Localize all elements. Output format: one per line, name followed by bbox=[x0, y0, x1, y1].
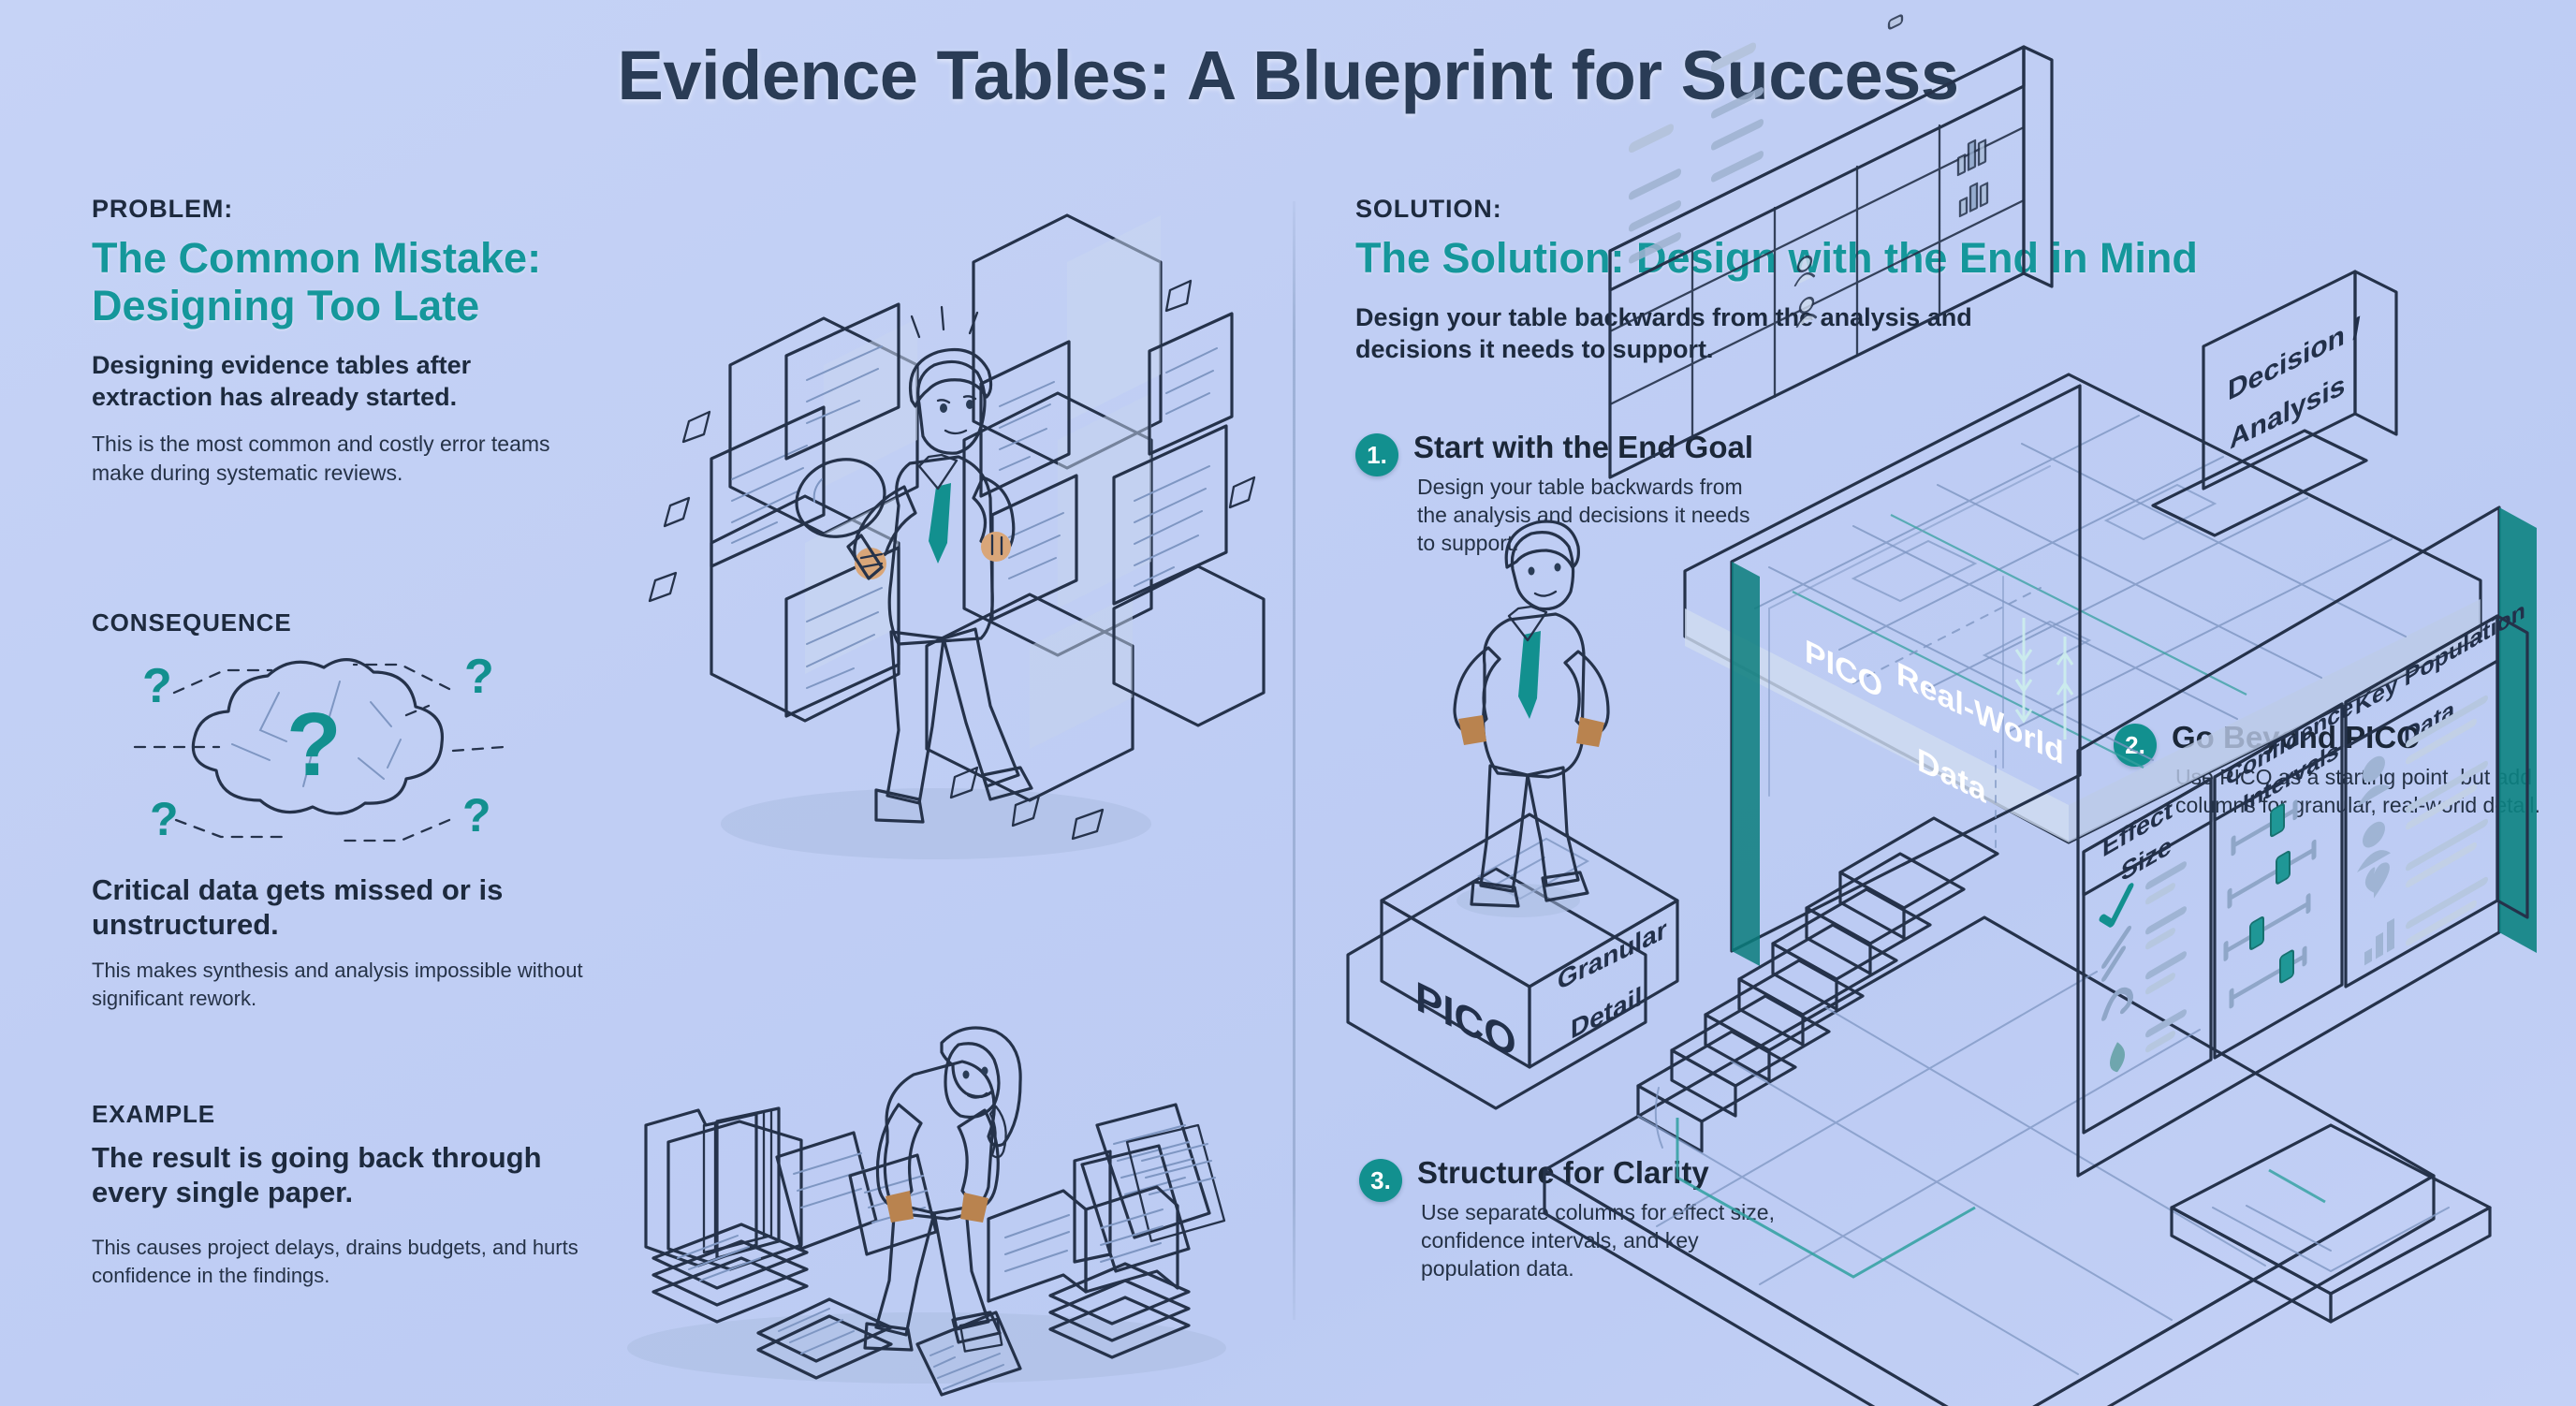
step-3-body: Use separate columns for effect size, co… bbox=[1421, 1199, 1777, 1283]
question-mark-icon-bottom-right: ? bbox=[462, 789, 491, 842]
magnifying-glass-icon bbox=[785, 447, 897, 579]
person-standing-on-pico bbox=[1455, 521, 1608, 917]
right-teal-backing bbox=[2078, 507, 2537, 1176]
step-2-title: Go Beyond PICO bbox=[2172, 721, 2540, 754]
solution-lead: Design your table backwards from the ana… bbox=[1355, 301, 2067, 366]
person-avatar-icon bbox=[2357, 813, 2391, 872]
problem-kicker: PROBLEM: bbox=[92, 195, 616, 224]
pico-realworld-wall: PICO Real-World Data bbox=[1732, 386, 2080, 966]
consequence-block: CONSEQUENCE bbox=[92, 608, 616, 637]
step-1-title: Start with the End Goal bbox=[1413, 431, 1764, 464]
paper-stacks bbox=[653, 1224, 1189, 1395]
isometric-block-group bbox=[711, 215, 1264, 800]
small-cell-marks bbox=[1889, 0, 1902, 29]
step-3-number: 3. bbox=[1359, 1159, 1402, 1202]
consequence-small: This makes synthesis and analysis imposs… bbox=[92, 957, 597, 1012]
problem-headline-line1: The Common Mistake: bbox=[92, 235, 616, 283]
wall-detail-lines bbox=[1769, 466, 2050, 796]
folder-icon-right bbox=[1075, 1105, 1224, 1271]
paper-maze-illustration bbox=[590, 206, 1264, 880]
bar-chart-icon bbox=[2364, 918, 2394, 965]
problem-lead: Designing evidence tables after extracti… bbox=[92, 349, 578, 414]
paper-fragments bbox=[650, 281, 1254, 839]
heart-icon bbox=[2365, 858, 2390, 903]
cloud-dashed-connectors bbox=[135, 665, 504, 841]
solution-kicker: SOLUTION: bbox=[1355, 195, 2525, 224]
step-2: 2. Go Beyond PICO Use PICO as a starting… bbox=[2114, 721, 2535, 820]
check-mark-icon bbox=[2102, 886, 2130, 929]
example-small: This causes project delays, drains budge… bbox=[92, 1234, 616, 1289]
column-cards-panel: Effect Size bbox=[2084, 596, 2527, 1133]
wall-realworld-line2: Data bbox=[1917, 740, 1987, 811]
pico-block-label: PICO bbox=[1415, 972, 1516, 1067]
bar-chart-icon bbox=[1958, 136, 1985, 175]
example-block: EXAMPLE The result is going back through… bbox=[92, 1100, 616, 1289]
consequence-kicker: CONSEQUENCE bbox=[92, 608, 616, 637]
step-3: 3. Structure for Clarity Use separate co… bbox=[1359, 1156, 1780, 1283]
example-big: The result is going back through every s… bbox=[92, 1140, 560, 1209]
folder-icon-left bbox=[646, 1108, 801, 1269]
step-1: 1. Start with the End Goal Design your t… bbox=[1355, 431, 1758, 558]
infographic-canvas: Evidence Tables: A Blueprint for Success… bbox=[0, 0, 2576, 1406]
question-mark-icon-center: ? bbox=[286, 695, 342, 795]
forest-plot-icon bbox=[2226, 786, 2314, 1015]
wall-pico-label: PICO bbox=[1805, 632, 1882, 706]
scattered-papers-illustration bbox=[580, 1020, 1273, 1395]
staircase bbox=[1638, 818, 1998, 1151]
person-with-magnifier bbox=[785, 307, 1032, 822]
example-kicker: EXAMPLE bbox=[92, 1100, 616, 1129]
question-mark-icon-bottom-left: ? bbox=[150, 793, 179, 845]
granular-detail-line2: Detail bbox=[1571, 981, 1642, 1045]
droplet-icon bbox=[2110, 1038, 2125, 1076]
bottom-folded-plate bbox=[2172, 1125, 2490, 1322]
decision-sign-line2: Analysis bbox=[2230, 367, 2345, 455]
consequence-text: Critical data gets missed or is unstruct… bbox=[92, 861, 616, 1012]
problem-headline: The Common Mistake: Designing Too Late bbox=[92, 235, 616, 330]
step-2-number: 2. bbox=[2114, 724, 2157, 767]
stress-lines-icon bbox=[912, 307, 977, 337]
card-effect-size-content bbox=[2102, 855, 2187, 1081]
open-book-icon bbox=[988, 1187, 1178, 1301]
step-2-body: Use PICO as a starting point, but add co… bbox=[2175, 764, 2540, 820]
blueprint-grid bbox=[1755, 416, 2406, 760]
column-divider bbox=[1293, 201, 1295, 1320]
step-1-number: 1. bbox=[1355, 433, 1398, 476]
step-3-title: Structure for Clarity bbox=[1417, 1156, 1777, 1190]
problem-column: PROBLEM: The Common Mistake: Designing T… bbox=[92, 195, 616, 487]
card-keypop-line1: Key Population bbox=[2355, 596, 2525, 721]
wall-realworld-line1: Real-World bbox=[1896, 654, 2064, 772]
floating-documents bbox=[711, 304, 1232, 716]
granular-detail-line1: Granular bbox=[1558, 914, 1667, 996]
flying-documents bbox=[777, 1133, 936, 1254]
trend-lines-icon bbox=[2104, 929, 2129, 978]
pico-pedestal: PICO Granular Detail bbox=[1348, 814, 1677, 1108]
wall-arrows bbox=[2016, 618, 2072, 740]
person-searching-papers bbox=[865, 1028, 1020, 1350]
curve-icon bbox=[2104, 985, 2130, 1021]
card-effect-size-line2: Size bbox=[2121, 831, 2172, 888]
question-mark-icon-top-right: ? bbox=[464, 650, 494, 704]
problem-body: This is the most common and costly error… bbox=[92, 430, 602, 487]
confusion-cloud-illustration: ? ? ? ? ? bbox=[120, 637, 513, 861]
page-title: Evidence Tables: A Blueprint for Success bbox=[0, 36, 2576, 115]
problem-headline-line2: Designing Too Late bbox=[92, 283, 616, 330]
card-effect-size: Effect Size bbox=[2084, 779, 2211, 1133]
consequence-big: Critical data gets missed or is unstruct… bbox=[92, 872, 560, 942]
step-1-body: Design your table backwards from the ana… bbox=[1417, 474, 1764, 558]
cloud-icon bbox=[193, 660, 442, 814]
solution-column: SOLUTION: The Solution: Design with the … bbox=[1355, 195, 2525, 365]
question-mark-icon-top-left: ? bbox=[142, 659, 172, 713]
solution-headline: The Solution: Design with the End in Min… bbox=[1355, 235, 2525, 283]
